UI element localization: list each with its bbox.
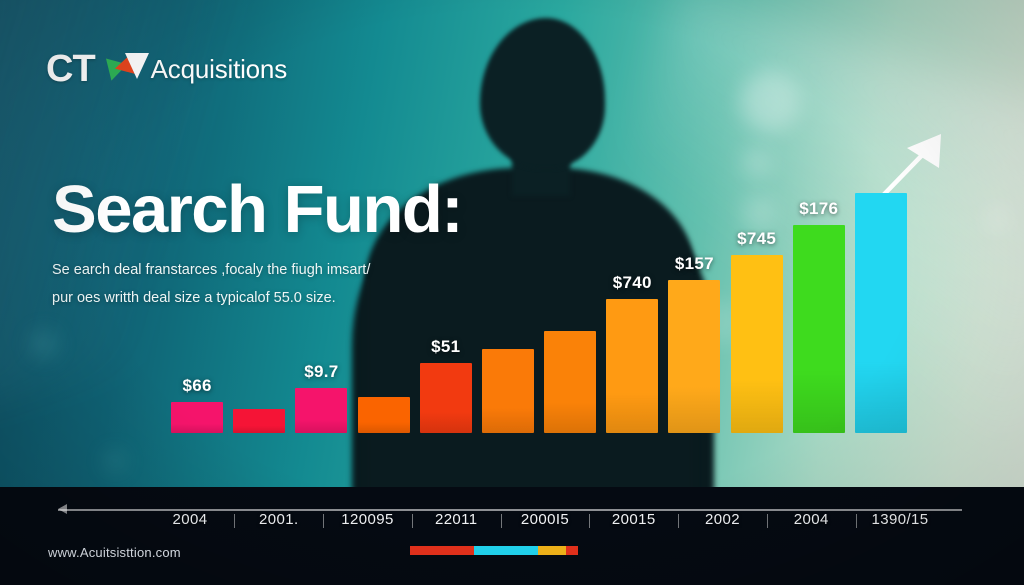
subtitle-block: Se earch deal franstarces ,focaly the fi… — [52, 256, 412, 313]
bar — [420, 363, 472, 433]
x-tick-label: 120095 — [341, 511, 393, 528]
chart-base-band — [0, 487, 1024, 585]
bar — [606, 299, 658, 433]
x-tick-label: 2000I5 — [521, 511, 569, 528]
light-sweep-right — [550, 0, 1024, 526]
bar — [793, 225, 845, 433]
bar-value-label: $745 — [737, 229, 776, 249]
bar-value-label: $176 — [799, 199, 838, 219]
brand-logo: CT Acquisitions — [46, 50, 287, 88]
bar-value-label: $9.7 — [304, 362, 338, 382]
x-tick-label: 2004 — [794, 511, 829, 528]
bar — [233, 409, 285, 433]
bokeh-circle — [470, 325, 510, 365]
accent-color-bar — [410, 546, 578, 555]
bokeh-circle — [742, 148, 772, 178]
bar-value-label: $157 — [675, 254, 714, 274]
bokeh-circle — [742, 196, 776, 230]
logo-wordmark: Acquisitions — [151, 56, 287, 82]
bar-value-label: $740 — [613, 273, 652, 293]
x-tick-label: 1390/15 — [871, 511, 928, 528]
tri-arrow-logo-icon — [103, 51, 147, 85]
color-bar-segment — [538, 546, 567, 555]
color-bar-segment — [410, 546, 474, 555]
x-tick-separator — [323, 514, 324, 528]
bokeh-circle — [870, 330, 892, 352]
bokeh-circle — [104, 450, 126, 472]
x-tick-separator — [856, 514, 857, 528]
bar — [855, 193, 907, 434]
subtitle-line-2: pur oes writth deal size a typicalof 55.… — [52, 284, 412, 312]
color-bar-segment — [566, 546, 578, 555]
x-tick-separator — [412, 514, 413, 528]
x-tick-separator — [678, 514, 679, 528]
bar — [544, 331, 596, 433]
footer-website-url[interactable]: www.Acuitsisttion.com — [48, 545, 181, 560]
bokeh-circle — [700, 300, 744, 344]
bar-value-label: $66 — [182, 376, 211, 396]
x-tick-label: 2002 — [705, 511, 740, 528]
x-tick-label: 20015 — [612, 511, 656, 528]
x-tick-separator — [501, 514, 502, 528]
subtitle-line-1: Se earch deal franstarces ,focaly the fi… — [52, 256, 412, 284]
bokeh-circle — [30, 330, 58, 358]
bar — [668, 280, 720, 433]
infographic-canvas: CT Acquisitions Search Fund: Se earch de… — [0, 0, 1024, 585]
x-tick-label: 22011 — [435, 511, 478, 528]
bar — [731, 255, 783, 433]
x-tick-separator — [589, 514, 590, 528]
bar — [358, 397, 410, 433]
bar — [482, 349, 534, 433]
x-axis-arrow-icon — [58, 504, 67, 514]
logo-initials: CT — [46, 50, 95, 88]
x-tick-label: 2004 — [173, 511, 208, 528]
bar-value-label: $51 — [431, 337, 460, 357]
up-right-arrow-icon — [855, 128, 955, 223]
page-title: Search Fund: — [52, 176, 462, 243]
x-tick-separator — [767, 514, 768, 528]
bokeh-circle — [740, 72, 800, 132]
x-tick-label: 2001. — [259, 511, 299, 528]
x-tick-separator — [234, 514, 235, 528]
x-axis-line — [58, 509, 962, 511]
bar — [171, 402, 223, 433]
bar — [295, 388, 347, 433]
color-bar-segment — [474, 546, 538, 555]
bokeh-circle — [985, 206, 1011, 232]
